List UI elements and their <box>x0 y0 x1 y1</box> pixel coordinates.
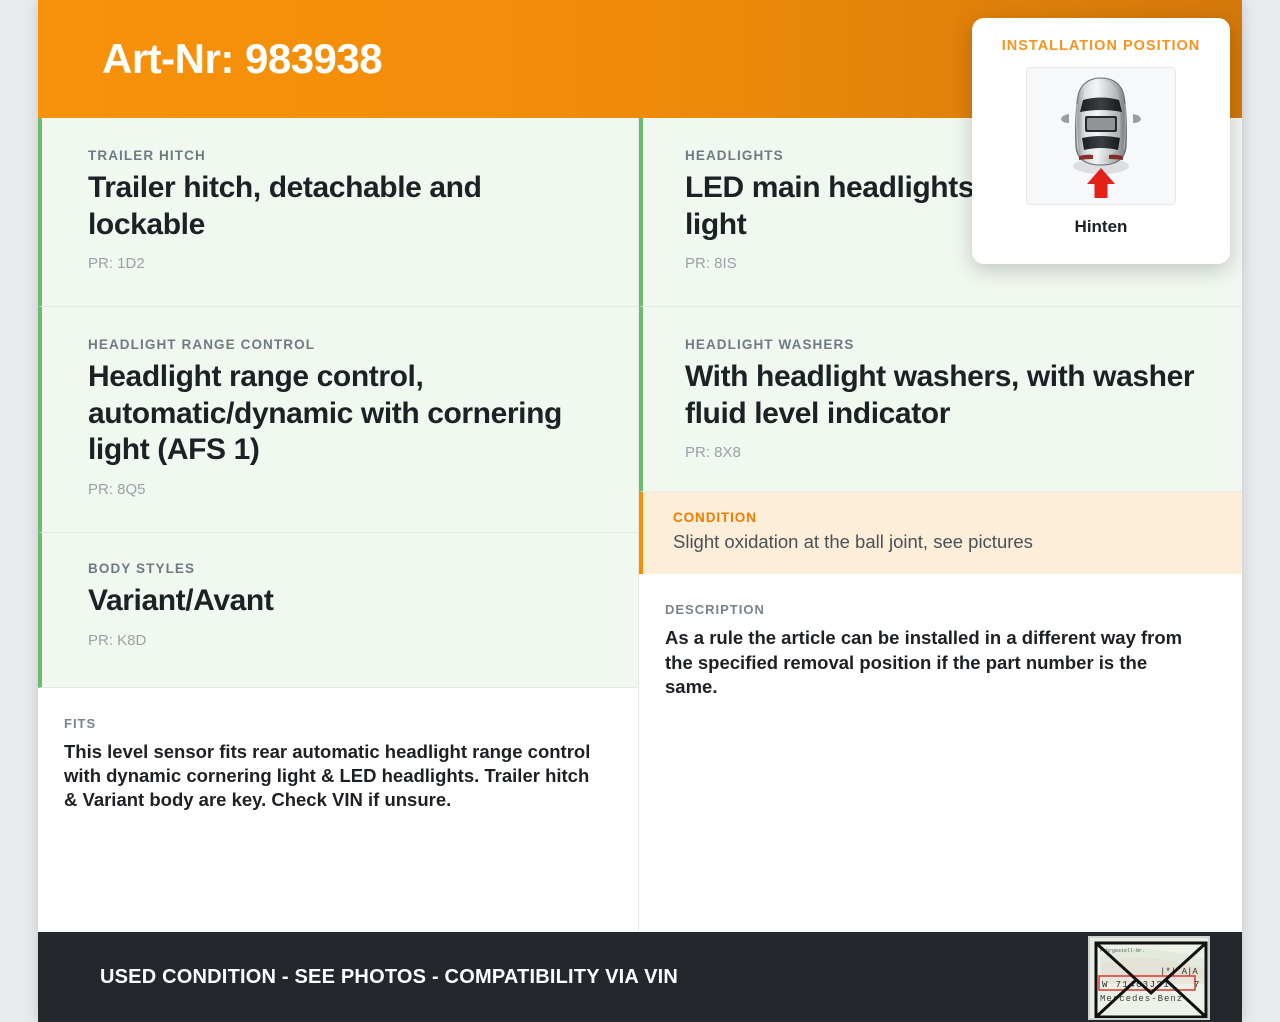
description-text: As a rule the article can be installed i… <box>665 626 1202 699</box>
feature-pr-code: PR: K8D <box>88 632 592 649</box>
page-title: Art-Nr: 983938 <box>38 35 382 83</box>
feature-value: Variant/Avant <box>88 583 592 620</box>
fits-section: FITS This level sensor fits rear automat… <box>38 688 638 839</box>
description-section: DESCRIPTION As a rule the article can be… <box>639 574 1242 725</box>
condition-eyebrow: CONDITION <box>673 510 1208 525</box>
feature-value: Headlight range control, automatic/dynam… <box>88 359 592 469</box>
fits-text: This level sensor fits rear automatic he… <box>64 740 598 813</box>
feature-card-body-styles: BODY STYLES Variant/Avant PR: K8D <box>38 533 638 688</box>
right-column-spacer <box>639 726 1242 932</box>
left-column: TRAILER HITCH Trailer hitch, detachable … <box>38 118 639 932</box>
feature-value: With headlight washers, with washer flui… <box>685 359 1196 432</box>
description-eyebrow: DESCRIPTION <box>665 602 1202 617</box>
fits-eyebrow: FITS <box>64 716 598 731</box>
feature-card-headlight-range-control: HEADLIGHT RANGE CONTROL Headlight range … <box>38 307 638 533</box>
feature-pr-code: PR: 8X8 <box>685 444 1196 461</box>
vehicle-registration-envelope-icon: Fahrgestell-Nr. |*| A|A W 71463J31 7 Mer… <box>1088 936 1210 1020</box>
installation-position-label: Hinten <box>972 217 1230 237</box>
car-top-view-rear-arrow-icon <box>1026 67 1176 205</box>
feature-pr-code: PR: 1D2 <box>88 255 592 272</box>
feature-pr-code: PR: 8Q5 <box>88 481 592 498</box>
feature-eyebrow: BODY STYLES <box>88 561 592 576</box>
feature-card-trailer-hitch: TRAILER HITCH Trailer hitch, detachable … <box>38 118 638 307</box>
feature-eyebrow: HEADLIGHT WASHERS <box>685 337 1196 352</box>
footer-bar: USED CONDITION - SEE PHOTOS - COMPATIBIL… <box>38 932 1242 1022</box>
installation-position-card[interactable]: INSTALLATION POSITION <box>972 18 1230 264</box>
svg-text:7: 7 <box>1194 980 1199 990</box>
footer-text: USED CONDITION - SEE PHOTOS - COMPATIBIL… <box>38 966 678 989</box>
installation-position-title: INSTALLATION POSITION <box>972 38 1230 54</box>
feature-card-headlight-washers: HEADLIGHT WASHERS With headlight washers… <box>639 307 1242 492</box>
feature-value: Trailer hitch, detachable and lockable <box>88 170 592 243</box>
condition-text: Slight oxidation at the ball joint, see … <box>673 530 1208 554</box>
feature-eyebrow: TRAILER HITCH <box>88 148 592 163</box>
feature-eyebrow: HEADLIGHT RANGE CONTROL <box>88 337 592 352</box>
condition-section: CONDITION Slight oxidation at the ball j… <box>639 492 1242 574</box>
left-column-spacer <box>38 839 638 932</box>
